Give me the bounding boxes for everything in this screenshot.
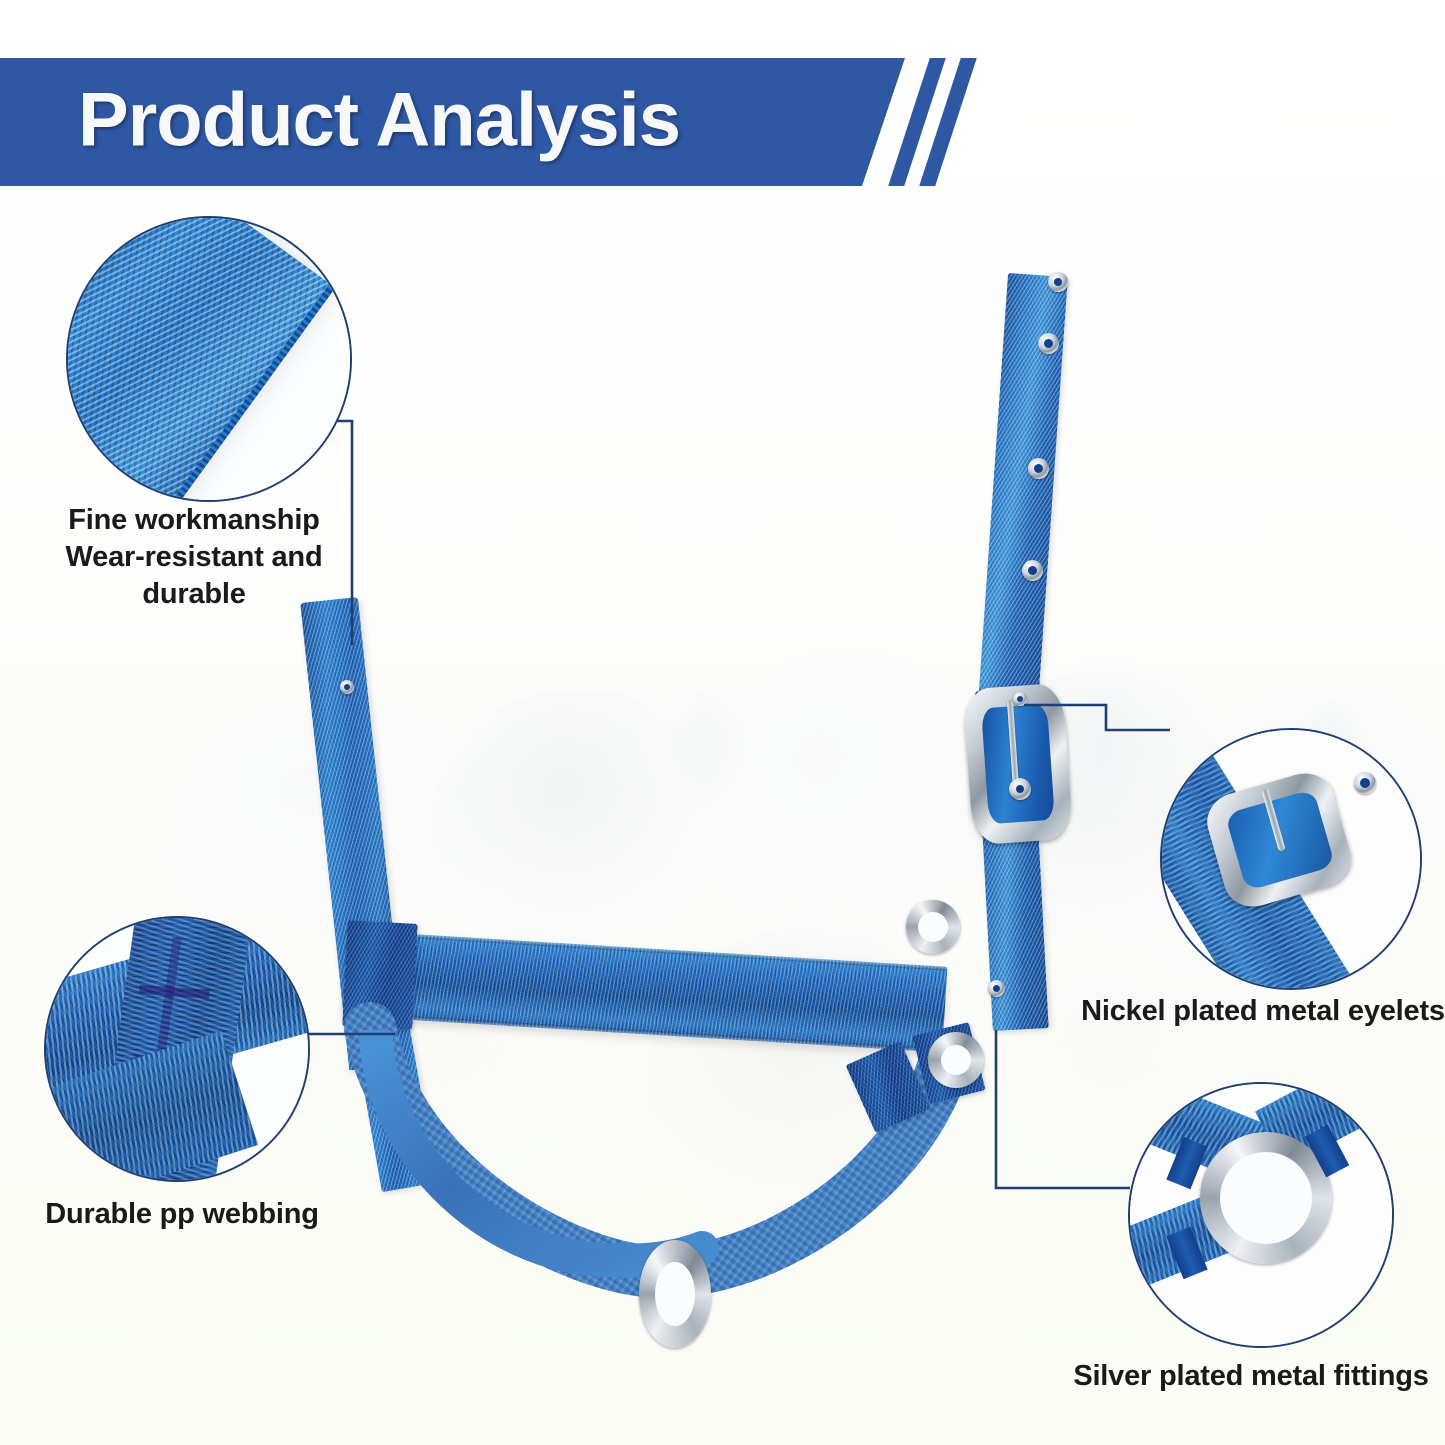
eyelet-icon — [1022, 560, 1043, 581]
caption-eyelets: Nickel plated metal eyelets — [1078, 993, 1445, 1030]
caption-eyelets-line1: Nickel plated metal eyelets — [1078, 993, 1445, 1030]
eyelet-icon — [340, 680, 354, 694]
caption-workmanship: Fine workmanship Wear-resistant and dura… — [14, 502, 374, 613]
callout-circle-eyelets — [1160, 728, 1422, 990]
side-buckle-opening — [981, 704, 1055, 824]
callout-circle-workmanship — [66, 216, 352, 502]
callout-circle-pp-webbing — [44, 916, 310, 1182]
junction-ring-icon — [928, 1032, 984, 1088]
eyelet-icon — [1048, 272, 1068, 292]
caption-pp-webbing-line1: Durable pp webbing — [22, 1196, 342, 1233]
buckle-top-eyelet-icon — [1013, 692, 1027, 706]
caption-fittings-line1: Silver plated metal fittings — [1056, 1358, 1445, 1395]
caption-pp-webbing: Durable pp webbing — [22, 1196, 342, 1233]
junction-ring-icon — [906, 900, 960, 954]
eyelet-icon — [1038, 333, 1059, 354]
buckle-pin-eyelet-icon — [1009, 778, 1031, 800]
infographic-canvas: Product Analysis — [0, 0, 1445, 1445]
eyelet-icon — [1028, 458, 1049, 479]
callout-circle-fittings — [1128, 1082, 1394, 1348]
lead-strap — [352, 1030, 772, 1300]
caption-workmanship-line1: Fine workmanship — [14, 502, 374, 539]
eyelet-icon — [1354, 772, 1376, 794]
eyelet-icon — [988, 980, 1005, 997]
caption-workmanship-line2: Wear-resistant and durable — [14, 539, 374, 613]
lead-ring-icon — [639, 1240, 711, 1348]
caption-fittings: Silver plated metal fittings — [1056, 1358, 1445, 1395]
